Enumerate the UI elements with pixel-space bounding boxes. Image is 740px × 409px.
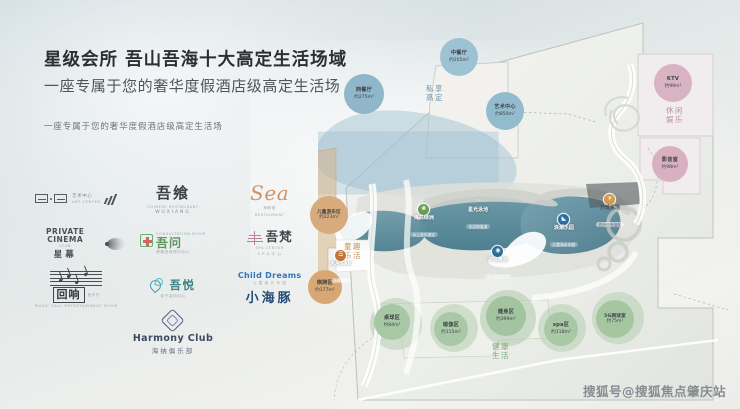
poi-zhongcanting[interactable]: 中餐厅 约205m² bbox=[440, 38, 478, 76]
poi-label: 健身区 bbox=[498, 310, 514, 316]
poi-label: 西餐厅 bbox=[356, 88, 372, 94]
brand-en-label: SPA CENTER bbox=[256, 246, 284, 250]
zone-label-line2: 高定 bbox=[426, 93, 444, 102]
pool-feature-sub: 水上游乐园区 bbox=[410, 232, 438, 237]
diagonal-stripes-icon bbox=[104, 194, 118, 204]
poi-label: 中餐厅 bbox=[451, 51, 467, 57]
brand-logo-wuxiang[interactable]: 吾飨 CHINESE RESTAURANT WUXIANG bbox=[125, 176, 222, 221]
surf-icon: ◉ bbox=[492, 246, 503, 257]
poi-area: 约275m² bbox=[354, 95, 374, 100]
poi-xicanting[interactable]: 西餐厅 约275m² bbox=[344, 74, 384, 114]
zone-label-line1: 休闲 bbox=[666, 106, 684, 115]
pool-feature-sub: 无边恒温池 bbox=[466, 224, 490, 229]
poi-label: 桌球区 bbox=[384, 316, 400, 322]
left-content-pane: 星级会所 吾山吾海十大高定生活场域 一座专属于您的奢华度假酒店级高定生活场 一座… bbox=[0, 0, 330, 409]
pool-feature-sub: 池畔酒吧 bbox=[331, 278, 351, 283]
watermark: 搜狐号@搜狐焦点肇庆站 bbox=[583, 381, 726, 400]
brand-logo-sea[interactable]: Sea 海鲜馆 RESTAURANT bbox=[221, 176, 318, 221]
poi-area: 约118m² bbox=[551, 330, 571, 335]
pool-feature-label: 海岛绿洲 bbox=[410, 216, 438, 222]
diamond-club-icon bbox=[161, 308, 185, 332]
brand-en-label: CHINESE RESTAURANT bbox=[147, 205, 198, 209]
page-note: 一座专属于您的奢华度假酒店级高定生活场 bbox=[44, 120, 223, 132]
pool-feature-label: 沙滩浴场 bbox=[596, 206, 624, 212]
brand-logo-harmony-club[interactable]: Harmony Club 海纳俱乐部 bbox=[125, 311, 222, 356]
zone-label-line2: 生活 bbox=[492, 351, 510, 360]
brand-cn-label: 艺术中心 bbox=[72, 195, 92, 199]
brand-en-label: Child Dreams bbox=[238, 271, 302, 280]
poi-label: 影音室 bbox=[662, 158, 678, 164]
brand-en-label: ART CENTER bbox=[72, 201, 100, 205]
poi-spa[interactable]: spa区 约118m² bbox=[544, 312, 578, 346]
spa-fountain-icon bbox=[247, 231, 263, 245]
brand-sub-label: 健康咨询顾问中心 bbox=[156, 250, 190, 255]
poi-label: 艺术中心 bbox=[494, 105, 516, 111]
poi-yishuzhongxin[interactable]: 艺术中心 约850m² bbox=[486, 92, 524, 130]
brand-logo-wuyue[interactable]: 吾悦 亲子活动中心 bbox=[125, 266, 222, 311]
brand-en-label: MUSIC HALL ENTERTAINMENT ROOM bbox=[35, 304, 118, 308]
brand-sub-label: S P A 中 心 bbox=[258, 252, 282, 257]
brand-cn-label: 海纳俱乐部 bbox=[152, 345, 195, 355]
pool-feature-langyuan[interactable]: ◣ 浪潮乐园 儿童戏水乐园 bbox=[550, 214, 578, 250]
brand-logo-wufan-spa[interactable]: 吾梵 SPA CENTER S P A 中 心 bbox=[221, 221, 318, 266]
pool-feature-label: 浪潮乐园 bbox=[550, 226, 578, 232]
poi-label: 瑜伽区 bbox=[443, 323, 459, 329]
pool-feature-sub: 儿童戏水乐园 bbox=[550, 242, 578, 247]
zone-label-xiuxian: 休闲 娱乐 bbox=[666, 106, 684, 125]
brand-cn-label: 吾问 bbox=[156, 237, 182, 249]
poi-area: 约84m² bbox=[384, 323, 401, 328]
poi-label: 5G网球室 bbox=[604, 314, 626, 319]
zone-label-jiankang: 健康 生活 bbox=[492, 342, 510, 361]
brand-logo-wuwen[interactable]: CONSULTATION ROOM 吾问 健康咨询顾问中心 bbox=[125, 221, 222, 266]
poi-yujia[interactable]: 瑜伽区 约115m² bbox=[434, 312, 468, 346]
pool-feature-wutai[interactable]: ◉ 冲浪舞台 水中视野秀场 bbox=[484, 246, 512, 282]
zone-label-sixiang: 私享 高定 bbox=[426, 84, 444, 103]
wave-icon: ◣ bbox=[558, 214, 569, 225]
brand-pinyin-label: WUXIANG bbox=[155, 210, 191, 215]
poi-area: 约115m² bbox=[441, 330, 461, 335]
brand-sub-label: 亲子活动中心 bbox=[160, 294, 185, 299]
pool-feature-sub: 水中视野秀场 bbox=[484, 274, 512, 279]
pool-feature-shatan[interactable]: ☀ 沙滩浴场 白沙日光浴区 bbox=[596, 194, 624, 230]
poi-label: KTV bbox=[667, 77, 679, 83]
poi-area: 约399m² bbox=[496, 317, 516, 322]
brand-cn-label: 吾梵 bbox=[266, 231, 293, 244]
brand-en-label: Harmony Club bbox=[133, 333, 213, 344]
poi-label: spa区 bbox=[553, 323, 569, 329]
brand-logo-huixiang[interactable]: 回响 音乐厅 MUSIC HALL ENTERTAINMENT ROOM bbox=[28, 266, 125, 311]
pool-feature-bar[interactable]: ☰ 水月BAR 池畔酒吧 bbox=[330, 250, 352, 286]
zone-label-line1: 私享 bbox=[426, 84, 444, 93]
zone-label-line1: 健康 bbox=[492, 342, 510, 351]
pool-feature-sub: 白沙日光浴区 bbox=[596, 222, 624, 227]
swim-icon: ≈ bbox=[472, 196, 483, 207]
music-stave-icon bbox=[50, 269, 102, 286]
poi-wangqiu[interactable]: 5G网球室 约75m² bbox=[596, 300, 634, 338]
poi-area: 约98m² bbox=[662, 165, 679, 170]
pool-feature-xingguang[interactable]: ≈ 星光泳池 无边恒温池 bbox=[466, 196, 490, 232]
poster-canvas: 星级会所 吾山吾海十大高定生活场域 一座专属于您的奢华度假酒店级高定生活场 一座… bbox=[0, 0, 740, 409]
page-subtitle: 一座专属于您的奢华度假酒店级高定生活场 bbox=[44, 75, 340, 96]
brand-sub-label: CLUB bbox=[59, 245, 71, 249]
sun-icon: ☀ bbox=[604, 194, 615, 205]
pool-feature-haidao[interactable]: ❀ 海岛绿洲 水上游乐园区 bbox=[410, 204, 438, 240]
brand-sub-label: 海鲜馆 bbox=[263, 206, 276, 211]
pool-feature-label: 冲浪舞台 bbox=[484, 258, 512, 264]
brand-cn-label: 回响 bbox=[53, 287, 85, 303]
pool-feature-label: 水月BAR bbox=[330, 262, 352, 268]
brand-logo-grid: 艺术中心 ART CENTER 吾飨 CHINESE RESTAURANT WU… bbox=[28, 176, 318, 356]
poi-yingyinshi[interactable]: 影音室 约98m² bbox=[652, 146, 688, 182]
pool-feature-label: 星光泳池 bbox=[466, 208, 490, 214]
brand-cn-label: 小海豚 bbox=[246, 287, 294, 306]
brand-logo-art-center[interactable]: 艺术中心 ART CENTER bbox=[28, 176, 125, 221]
brand-sub-label: 音乐厅 bbox=[88, 294, 101, 298]
page-title: 星级会所 吾山吾海十大高定生活场域 bbox=[44, 46, 347, 71]
poi-zhuoqiu[interactable]: 桌球区 约84m² bbox=[374, 304, 410, 340]
stethoscope-cross-icon bbox=[140, 234, 153, 247]
wave-dolphin-icon bbox=[150, 278, 166, 293]
gate-stripes-icon bbox=[35, 194, 67, 203]
brand-logo-private-cinema[interactable]: PRIVATE CINEMA CLUB 星幕 bbox=[28, 221, 125, 266]
projector-fan-icon bbox=[105, 238, 124, 250]
brand-cn-label: 星幕 bbox=[54, 251, 77, 260]
zone-label-line2: 娱乐 bbox=[666, 115, 684, 124]
brand-en-label: RESTAURANT bbox=[255, 213, 285, 217]
poi-area: 约850m² bbox=[495, 112, 515, 117]
poi-ktv[interactable]: KTV 约99m² bbox=[654, 64, 692, 102]
poi-area: 约75m² bbox=[607, 319, 624, 324]
brand-cn-label: Sea bbox=[250, 181, 289, 205]
brand-sub-label: 儿 童 成 长 乐 园 bbox=[253, 281, 287, 286]
poi-jianshen[interactable]: 健身区 约399m² bbox=[486, 296, 526, 336]
brand-en-label: PRIVATE CINEMA bbox=[28, 228, 102, 244]
brand-cn-label: 吾飨 bbox=[156, 182, 190, 203]
palm-tree-icon: ❀ bbox=[418, 204, 429, 215]
site-plan-map[interactable]: 西餐厅 约275m² 中餐厅 约205m² 艺术中心 约850m² KTV 约9… bbox=[318, 8, 740, 409]
cocktail-icon: ☰ bbox=[335, 250, 346, 261]
brand-logo-child-dreams[interactable]: Child Dreams 儿 童 成 长 乐 园 小海豚 bbox=[221, 266, 318, 311]
poi-area: 约99m² bbox=[665, 84, 682, 89]
brand-cn-label: 吾悦 bbox=[169, 280, 195, 292]
poi-area: 约205m² bbox=[449, 58, 469, 63]
